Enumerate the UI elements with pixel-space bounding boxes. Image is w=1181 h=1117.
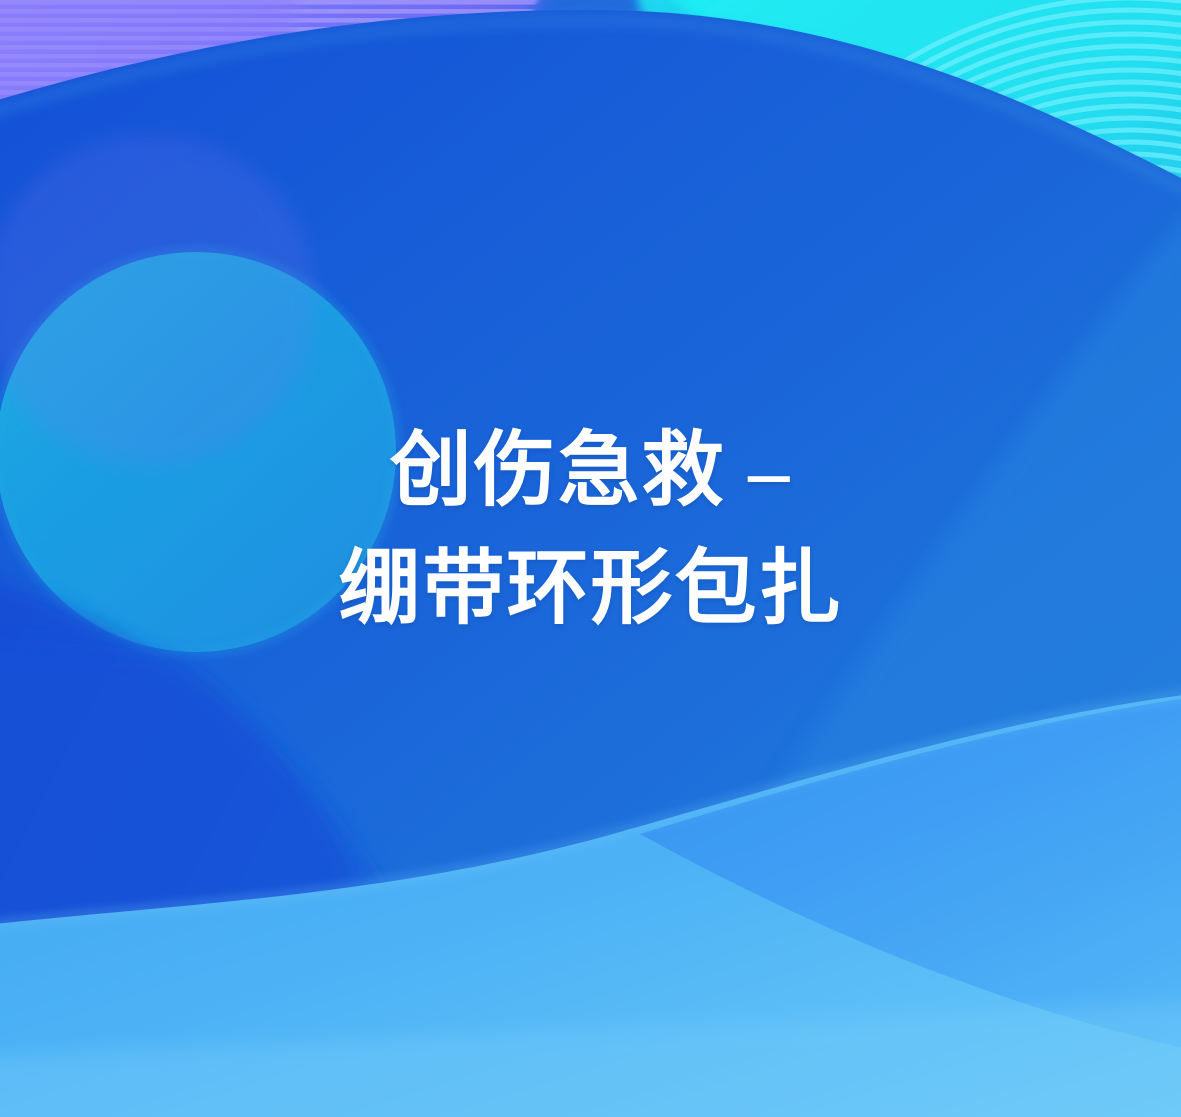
background-artwork [0, 0, 1181, 1117]
title-slide: 创伤急救 – 绷带环形包扎 [0, 0, 1181, 1117]
tone-overlay [0, 0, 1181, 1117]
